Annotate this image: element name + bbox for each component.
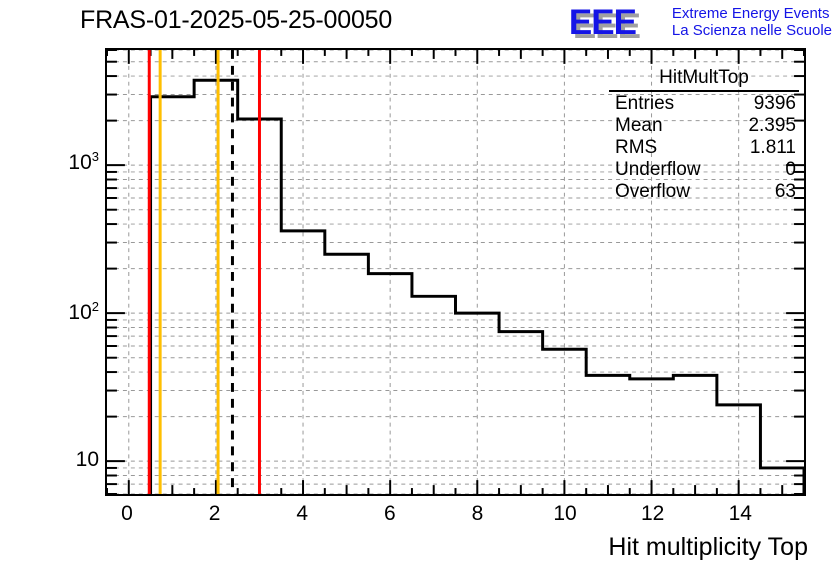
x-tick-label-5: 10	[553, 502, 576, 526]
eee-logo-mark: EEE EEE	[569, 4, 667, 40]
x-tick-label-7: 14	[729, 502, 752, 526]
stats-value: 63	[775, 181, 796, 203]
stats-value: 9396	[754, 93, 796, 115]
x-tick-label-0: 0	[121, 502, 133, 526]
x-tick-label-3: 6	[384, 502, 396, 526]
y-tick-label-2: 103	[39, 149, 99, 175]
x-tick-label-2: 4	[296, 502, 308, 526]
eee-logo-text: Extreme Energy Events La Scienza nelle S…	[672, 5, 832, 39]
x-tick-label-1: 2	[209, 502, 221, 526]
stats-row: Entries9396	[609, 93, 799, 115]
stats-rows: Entries9396Mean2.395RMS1.811Underflow0Ov…	[609, 93, 799, 203]
stats-row: Underflow0	[609, 159, 799, 181]
stats-title: HitMultTop	[609, 67, 799, 92]
stats-key: Underflow	[615, 159, 701, 181]
x-tick-label-6: 12	[641, 502, 664, 526]
eee-logo-line1: Extreme Energy Events	[672, 5, 832, 22]
stats-key: Mean	[615, 115, 663, 137]
eee-logo: EEE EEE Extreme Energy Events La Scienza…	[569, 2, 832, 42]
stats-row: Mean2.395	[609, 115, 799, 137]
stats-key: Entries	[615, 93, 674, 115]
stats-key: RMS	[615, 137, 657, 159]
page-title: FRAS-01-2025-05-25-00050	[80, 6, 392, 35]
stats-value: 2.395	[748, 115, 796, 137]
stats-box: HitMultTop Entries9396Mean2.395RMS1.811U…	[609, 67, 799, 203]
root-canvas: FRAS-01-2025-05-25-00050 EEE EEE Extreme…	[0, 0, 836, 572]
stats-value: 1.811	[750, 137, 796, 159]
stats-key: Overflow	[615, 181, 690, 203]
stats-row: Overflow63	[609, 181, 799, 203]
stats-row: RMS1.811	[609, 137, 799, 159]
x-tick-label-4: 8	[472, 502, 484, 526]
y-tick-label-0: 10	[39, 448, 99, 472]
y-tick-label-1: 102	[39, 299, 99, 325]
eee-logo-line2: La Scienza nelle Scuole	[672, 22, 832, 39]
eee-logo-letters: EEE	[569, 5, 636, 41]
x-axis-title: Hit multiplicity Top	[608, 533, 808, 562]
stats-value: 0	[785, 159, 796, 181]
